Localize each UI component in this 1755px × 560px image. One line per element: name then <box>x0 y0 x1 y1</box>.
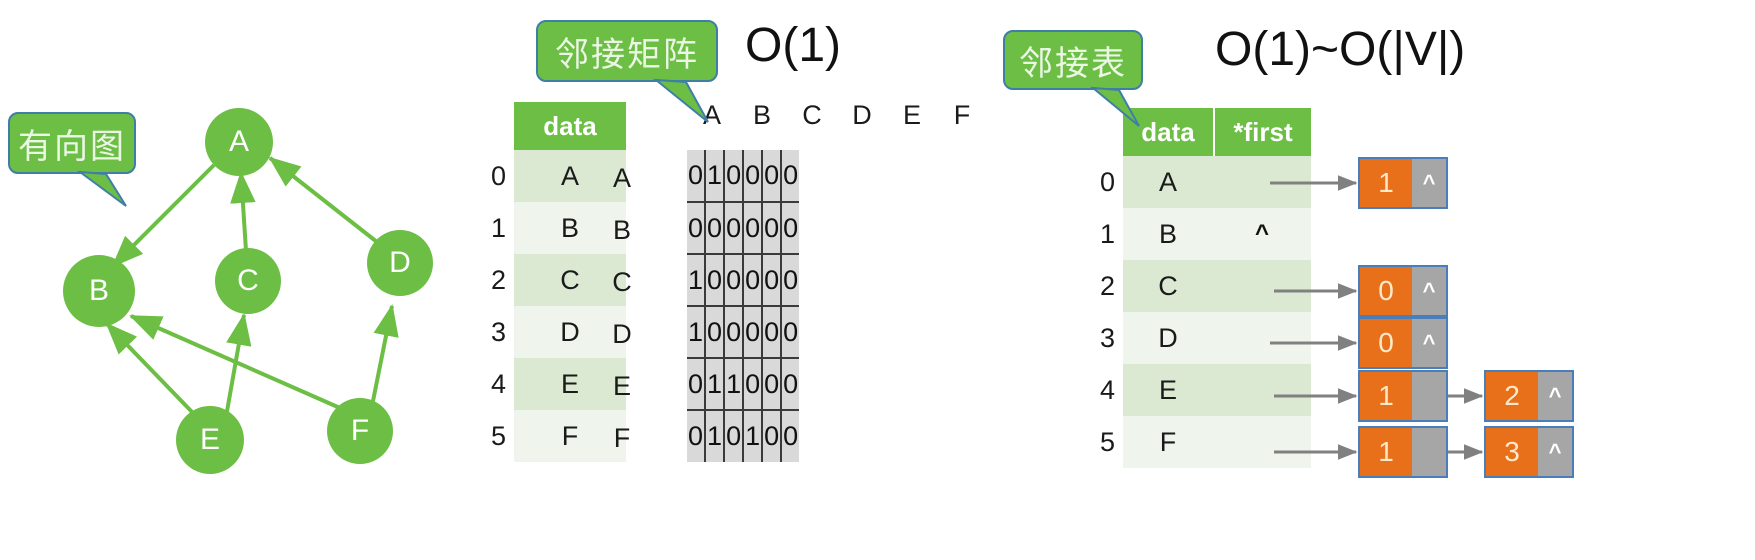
matrix-cell[interactable]: 1 <box>687 254 705 306</box>
matrix-row-header: C <box>607 267 637 298</box>
matrix-cell[interactable]: 0 <box>724 150 743 202</box>
row-index: 0 <box>472 150 506 202</box>
graph-node-F-label: F <box>351 414 369 448</box>
matrix-cell[interactable]: 0 <box>781 358 799 410</box>
matrix-cell[interactable]: 0 <box>743 306 762 358</box>
callout-tail-icon <box>656 80 726 126</box>
directed-graph-panel: 有向图 <box>0 0 470 560</box>
callout-tail-icon <box>80 172 140 208</box>
adjlist-data-cell: F <box>1123 416 1213 468</box>
matrix-cell[interactable]: 0 <box>687 410 705 462</box>
matrix-col-header: E <box>887 100 937 131</box>
row-index: 4 <box>1081 364 1115 416</box>
node-value: 0 <box>1360 319 1412 367</box>
matrix-row-header: A <box>607 163 637 194</box>
matrix-cell[interactable]: 0 <box>743 150 762 202</box>
graph-node-C[interactable]: C <box>215 248 281 314</box>
node-next-pointer <box>1412 372 1446 420</box>
callout-adjacency-list-label: 邻接表 <box>1019 36 1127 85</box>
matrix-cell[interactable]: 0 <box>743 254 762 306</box>
node-value: 3 <box>1486 428 1538 476</box>
matrix-cell[interactable]: 0 <box>743 358 762 410</box>
matrix-col-header: C <box>787 100 837 131</box>
matrix-row-header: B <box>607 215 637 246</box>
matrix-row: 0 1 1 0 0 0 <box>687 358 799 410</box>
node-value: 0 <box>1360 267 1412 315</box>
matrix-cell[interactable]: 0 <box>762 150 781 202</box>
graph-node-B-label: B <box>89 274 109 308</box>
matrix-cell[interactable]: 1 <box>705 150 724 202</box>
matrix-row-header: D <box>607 319 637 350</box>
matrix-row: 1 0 0 0 0 0 <box>687 306 799 358</box>
vertex-value: A <box>561 161 579 192</box>
matrix-row: 0 1 0 0 0 0 <box>687 150 799 202</box>
matrix-cell[interactable]: 0 <box>705 306 724 358</box>
matrix-grid: 0 1 0 0 0 0 0 0 0 0 0 0 1 0 0 0 0 0 <box>687 150 799 462</box>
vertex-value: E <box>561 369 579 400</box>
matrix-cell[interactable]: 0 <box>762 306 781 358</box>
row-index: 1 <box>1081 208 1115 260</box>
edge-C-A <box>241 173 246 251</box>
vertex-table-header: data <box>514 102 626 150</box>
row-index: 4 <box>472 358 506 410</box>
matrix-row-header: F <box>607 423 637 454</box>
edge-D-A <box>270 158 377 242</box>
node-value: 1 <box>1360 428 1412 476</box>
matrix-cell[interactable]: 0 <box>781 150 799 202</box>
slide-canvas: 有向图 <box>0 0 1755 560</box>
matrix-cell[interactable]: 0 <box>724 202 743 254</box>
vertex-value: C <box>560 265 580 296</box>
matrix-cell[interactable]: 0 <box>705 202 724 254</box>
node-next-null: ^ <box>1412 159 1446 207</box>
graph-node-A[interactable]: A <box>205 108 273 176</box>
graph-node-D-label: D <box>389 246 411 280</box>
callout-adjacency-list: 邻接表 <box>1003 30 1143 90</box>
graph-node-C-label: C <box>237 264 259 298</box>
matrix-cell[interactable]: 0 <box>724 306 743 358</box>
vertex-value: B <box>561 213 579 244</box>
linked-list-arrows <box>1270 140 1755 560</box>
matrix-row: 0 0 0 0 0 0 <box>687 202 799 254</box>
adjlist-data-cell: D <box>1123 312 1213 364</box>
linked-list-node[interactable]: 0 ^ <box>1358 265 1448 317</box>
matrix-cell[interactable]: 0 <box>781 306 799 358</box>
matrix-cell[interactable]: 0 <box>705 254 724 306</box>
node-value: 1 <box>1360 159 1412 207</box>
edge-F-B <box>131 316 340 408</box>
callout-adjacency-matrix: 邻接矩阵 <box>536 20 718 82</box>
node-next-pointer <box>1412 428 1446 476</box>
linked-list-node[interactable]: 2 ^ <box>1484 370 1574 422</box>
row-index: 1 <box>472 202 506 254</box>
matrix-cell[interactable]: 0 <box>781 202 799 254</box>
matrix-cell[interactable]: 0 <box>687 358 705 410</box>
matrix-col-header: B <box>737 100 787 131</box>
matrix-col-header: D <box>837 100 887 131</box>
matrix-cell[interactable]: 0 <box>687 150 705 202</box>
matrix-cell[interactable]: 0 <box>762 410 781 462</box>
matrix-cell[interactable]: 0 <box>781 254 799 306</box>
node-value: 1 <box>1360 372 1412 420</box>
callout-adjacency-matrix-label: 邻接矩阵 <box>555 27 699 76</box>
linked-list-node[interactable]: 3 ^ <box>1484 426 1574 478</box>
matrix-cell[interactable]: 0 <box>762 254 781 306</box>
matrix-cell[interactable]: 0 <box>724 410 743 462</box>
row-index: 3 <box>472 306 506 358</box>
node-next-null: ^ <box>1538 372 1572 420</box>
node-next-null: ^ <box>1538 428 1572 476</box>
matrix-cell[interactable]: 1 <box>705 358 724 410</box>
node-value: 2 <box>1486 372 1538 420</box>
adjlist-data-cell: A <box>1123 156 1213 208</box>
graph-node-E-label: E <box>200 423 220 457</box>
adjlist-data-cell: E <box>1123 364 1213 416</box>
linked-list-node[interactable]: 1 <box>1358 370 1448 422</box>
graph-node-F[interactable]: F <box>327 398 393 464</box>
vertex-value: F <box>562 421 579 452</box>
matrix-cell[interactable]: 0 <box>687 202 705 254</box>
adjlist-data-cell: C <box>1123 260 1213 312</box>
matrix-col-header: F <box>937 100 987 131</box>
linked-list-node[interactable]: 1 ^ <box>1358 157 1448 209</box>
matrix-row: 1 0 0 0 0 0 <box>687 254 799 306</box>
matrix-complexity-label: O(1) <box>745 18 841 73</box>
vertex-value: D <box>560 317 580 348</box>
row-index: 5 <box>1081 416 1115 468</box>
matrix-cell[interactable]: 1 <box>724 358 743 410</box>
linked-list-node[interactable]: 1 <box>1358 426 1448 478</box>
matrix-cell[interactable]: 0 <box>781 410 799 462</box>
matrix-cell[interactable]: 0 <box>762 202 781 254</box>
matrix-cell[interactable]: 0 <box>762 358 781 410</box>
row-index: 2 <box>472 254 506 306</box>
matrix-cell[interactable]: 0 <box>743 202 762 254</box>
node-next-null: ^ <box>1412 319 1446 367</box>
linked-list-node[interactable]: 0 ^ <box>1358 317 1448 369</box>
matrix-cell[interactable]: 1 <box>705 410 724 462</box>
callout-directed-graph-label: 有向图 <box>18 119 126 168</box>
matrix-row-header: E <box>607 371 637 402</box>
adjlist-data-cell: B <box>1123 208 1213 260</box>
graph-node-E[interactable]: E <box>176 406 244 474</box>
graph-node-A-label: A <box>229 125 249 159</box>
row-index: 2 <box>1081 260 1115 312</box>
edge-F-D <box>372 306 392 406</box>
row-index: 3 <box>1081 312 1115 364</box>
callout-directed-graph: 有向图 <box>8 112 136 174</box>
list-complexity-label: O(1)~O(|V|) <box>1215 22 1465 77</box>
matrix-cell[interactable]: 1 <box>743 410 762 462</box>
callout-tail-icon <box>1093 88 1153 130</box>
matrix-cell[interactable]: 1 <box>687 306 705 358</box>
row-index: 5 <box>472 410 506 462</box>
graph-node-B[interactable]: B <box>63 255 135 327</box>
matrix-cell[interactable]: 0 <box>724 254 743 306</box>
row-index: 0 <box>1081 156 1115 208</box>
matrix-row: 0 1 0 1 0 0 <box>687 410 799 462</box>
node-next-null: ^ <box>1412 267 1446 315</box>
graph-node-D[interactable]: D <box>367 230 433 296</box>
